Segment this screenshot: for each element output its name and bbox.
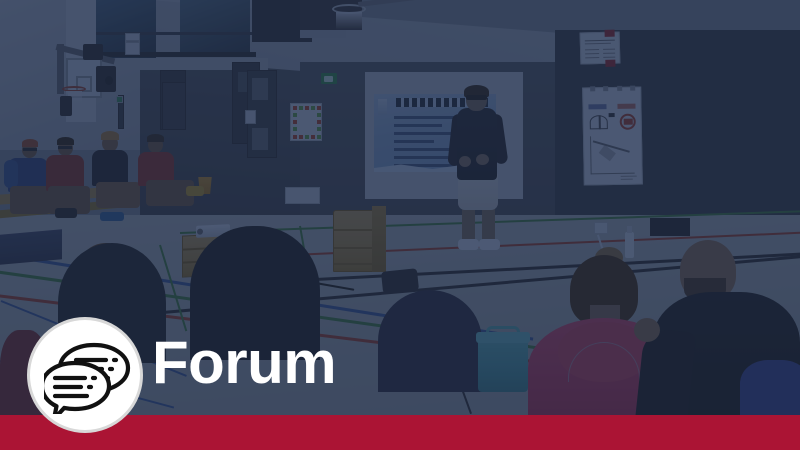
forum-logo bbox=[27, 317, 143, 433]
page-title: Forum bbox=[152, 333, 336, 393]
forum-banner: Forum bbox=[0, 0, 800, 450]
speech-bubbles-icon bbox=[44, 342, 132, 414]
